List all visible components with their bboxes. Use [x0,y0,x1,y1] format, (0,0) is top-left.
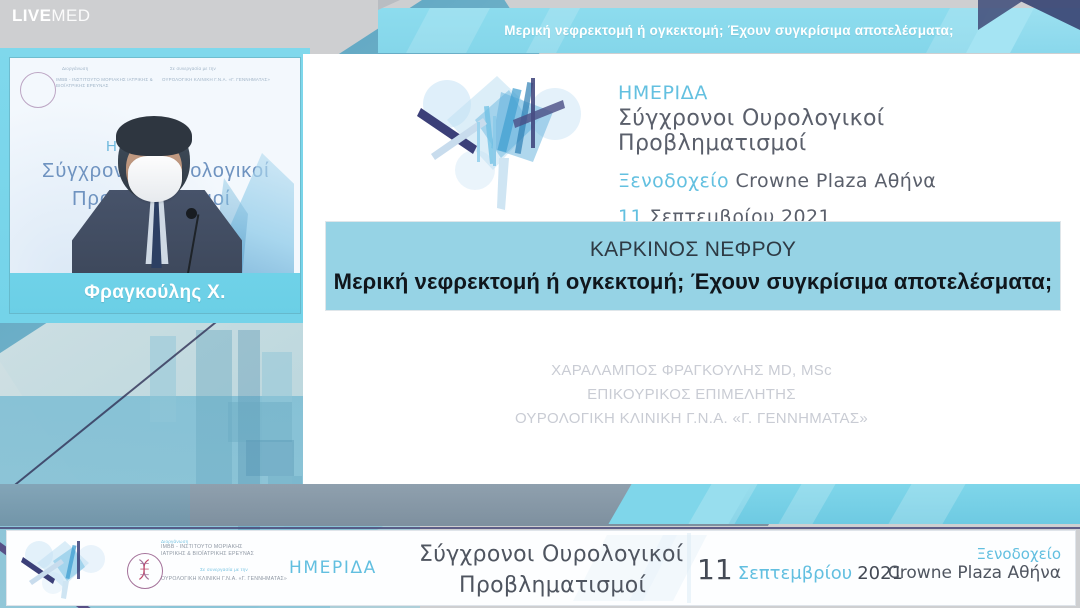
banner-logo-icon [19,535,115,601]
bg-lower-left-block [0,484,190,526]
backdrop-institute-logo-icon [20,72,56,108]
conference-logo-svg [413,62,588,227]
banner-venue-label: Ξενοδοχείο [888,545,1061,563]
banner-organizer-line1: ΙΜΒΒ - ΙΝΣΤΙΤΟΥΤΟ ΜΟΡΙΑΚΗΣ [161,544,329,551]
slide-venue-label: Ξενοδοχείο [618,170,729,192]
slide-title-box: ΚΑΡΚΙΝΟΣ ΝΕΦΡΟΥ Μερική νεφρεκτομή ή ογκε… [325,221,1061,311]
banner-date-month: Σεπτεμβρίου [738,563,852,584]
backdrop-cooperation-label: Σε συνεργασία με την [170,66,216,72]
slide-header: ΗΜΕΡΙΔΑ Σύγχρονοι Ουρολογικοί Προβληματι… [618,82,1080,228]
session-title-text: Μερική νεφρεκτομή ή ογκεκτομή; Έχουν συγ… [378,8,1080,53]
backdrop-cooperation: ΟΥΡΟΛΟΓΙΚΗ ΚΛΙΝΙΚΗ Γ.Ν.Α. «Γ. ΓΕΝΝΗΜΑΤΑΣ… [162,77,294,83]
institute-dna-logo-icon [127,553,163,589]
dna-logo-svg [129,554,161,586]
banner-organizer-line2: ΙΑΤΡΙΚΗΣ & ΒΙΟΪΑΤΡΙΚΗΣ ΕΡΕΥΝΑΣ [161,551,329,558]
backdrop-organizer: ΙΜΒΒ - ΙΝΣΤΙΤΟΥΤΟ ΜΟΡΙΑΚΗΣ ΙΑΤΡΙΚΗΣ & ΒΙ… [56,77,164,89]
livemed-logo-light: MED [51,6,90,25]
author-affiliation: ΟΥΡΟΛΟΓΙΚΗ ΚΛΙΝΙΚΗ Γ.Ν.Α. «Γ. ΓΕΝΝΗΜΑΤΑΣ… [303,407,1080,431]
slide-title-line2: Μερική νεφρεκτομή ή ογκεκτομή; Έχουν συγ… [334,269,1053,295]
banner-event-name: Σύγχρονοι Ουρολογικοί Προβληματισμοί [419,539,684,601]
bg-block-7 [150,336,176,422]
banner-date-day: 11 [697,553,733,586]
face-mask-icon [128,156,182,202]
backdrop-organizer-label: Διοργάνωση [62,66,88,72]
camera-feed[interactable]: Διοργάνωση ΙΜΒΒ - ΙΝΣΤΙΤΟΥΤΟ ΜΟΡΙΑΚΗΣ ΙΑ… [10,58,300,313]
banner-date: 11 Σεπτεμβρίου 2021 [697,553,903,586]
presentation-slide[interactable]: ΗΜΕΡΙΔΑ Σύγχρονοι Ουρολογικοί Προβληματι… [303,54,1080,484]
bg-block-4 [228,402,292,442]
webinar-player: LIVEMED Μερική νεφρεκτομή ή ογκεκτομή; Έ… [0,0,1080,608]
author-role: ΕΠΙΚΟΥΡΙΚΟΣ ΕΠΙΜΕΛΗΤΗΣ [303,383,1080,407]
livemed-logo-bold: LIVE [12,6,51,25]
slide-venue: Ξενοδοχείο Crowne Plaza Αθήνα [618,170,1080,192]
slide-event-name: Σύγχρονοι Ουρολογικοί Προβληματισμοί [618,106,1080,156]
bg-purple-divider [0,527,1080,529]
bg-block-5 [246,440,294,476]
banner-venue-name: Crowne Plaza Αθήνα [888,563,1061,583]
slide-event-kind: ΗΜΕΡΙΔΑ [618,82,1080,104]
microphone-icon [186,208,197,219]
author-name: ΧΑΡΑΛΑΜΠΟΣ ΦΡΑΓΚΟΥΛΗΣ MD, MSc [303,359,1080,383]
conference-logo-icon [413,62,588,227]
livemed-logo: LIVEMED [12,6,90,26]
slide-title-line1: ΚΑΡΚΙΝΟΣ ΝΕΦΡΟΥ [590,238,796,262]
banner-logo-svg [19,535,115,601]
banner-event-line1: Σύγχρονοι Ουρολογικοί [419,539,684,570]
speaker-hair [116,116,192,156]
speaker-name-badge: Φραγκούλης Χ. [10,273,300,313]
slide-venue-name: Crowne Plaza Αθήνα [736,170,937,192]
bg-block-1 [196,330,232,510]
banner-event-line2: Προβληματισμοί [459,570,684,601]
banner-event-kind: ΗΜΕΡΙΔΑ [289,558,377,578]
bottom-banner: Διοργάνωση ΙΜΒΒ - ΙΝΣΤΙΤΟΥΤΟ ΜΟΡΙΑΚΗΣ ΙΑ… [6,530,1076,606]
slide-author-block: ΧΑΡΑΛΑΜΠΟΣ ΦΡΑΓΚΟΥΛΗΣ MD, MSc ΕΠΙΚΟΥΡΙΚΟ… [303,359,1080,431]
banner-venue: Ξενοδοχείο Crowne Plaza Αθήνα [888,545,1061,583]
